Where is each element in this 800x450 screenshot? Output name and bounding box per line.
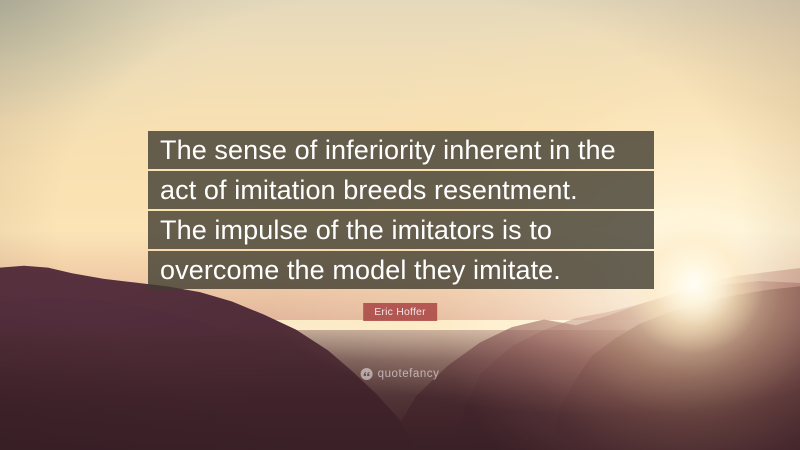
quote-line-4: overcome the model they imitate.: [148, 251, 654, 289]
quotefancy-watermark: quotefancy: [361, 368, 440, 380]
quote-line-3: The impulse of the imitators is to: [148, 211, 654, 249]
quote-mark-icon: [361, 368, 373, 380]
quote-text-block: The sense of inferiority inherent in the…: [148, 131, 654, 289]
quote-line-2: act of imitation breeds resentment.: [148, 171, 654, 209]
quote-line-1: The sense of inferiority inherent in the: [148, 131, 654, 169]
quotefancy-brand-label: quotefancy: [378, 368, 440, 380]
quote-author-badge: Eric Hoffer: [363, 303, 437, 321]
